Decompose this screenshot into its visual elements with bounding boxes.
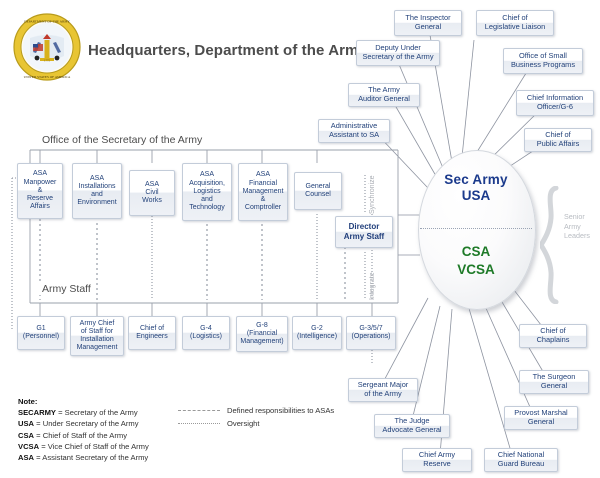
node-asa-civil-works[interactable]: ASA Civil Works xyxy=(129,170,175,216)
node-chief-of-chaplains[interactable]: Chief of Chaplains xyxy=(519,324,587,348)
center-label-vcsa: VCSA xyxy=(418,262,534,277)
node-army-auditor-general[interactable]: The Army Auditor General xyxy=(348,83,420,107)
army-staff-section-caption: Army Staff xyxy=(38,283,95,295)
note-block: Note: SECARMY = Secretary of the Army US… xyxy=(18,396,149,463)
node-g1-personnel[interactable]: G1 (Personnel) xyxy=(17,316,65,350)
dotted-line-icon xyxy=(178,423,220,424)
node-g4-logistics[interactable]: G-4 (Logistics) xyxy=(182,316,230,350)
dashed-line-icon xyxy=(178,410,220,411)
note-abbr-csa: CSA xyxy=(18,431,34,440)
note-abbr-vcsa: VCSA xyxy=(18,442,39,451)
center-label-usa: USA xyxy=(418,188,534,203)
node-administrative-assistant-sa[interactable]: Administrative Assistant to SA xyxy=(318,119,390,143)
node-army-chief-installation-mgmt[interactable]: Army Chief of Staff for Installation Man… xyxy=(70,316,124,356)
note-abbr-usa: USA xyxy=(18,419,34,428)
note-def-secarmy: = Secretary of the Army xyxy=(58,408,138,417)
legend-block: Defined responsibilities to ASAs Oversig… xyxy=(178,404,334,430)
node-asa-financial[interactable]: ASA Financial Management & Comptroller xyxy=(238,163,288,221)
note-def-csa: = Chief of Staff of the Army xyxy=(36,431,127,440)
node-chief-legislative-liaison[interactable]: Chief of Legislative Liaison xyxy=(476,10,554,36)
node-g357-operations[interactable]: G-3/5/7 (Operations) xyxy=(346,316,396,350)
node-g2-intelligence[interactable]: G-2 (Intelligence) xyxy=(292,316,342,350)
node-asa-manpower[interactable]: ASA Manpower & Reserve Affairs xyxy=(17,163,63,219)
note-abbr-secarmy: SECARMY xyxy=(18,408,56,417)
senior-leaders-brace-icon xyxy=(540,186,562,304)
org-chart-canvas: 1775 DEPARTMENT OF THE ARMY UNITED STATE… xyxy=(0,0,600,478)
note-def-usa: = Under Secretary of the Army xyxy=(36,419,138,428)
legend-row-dotted: Oversight xyxy=(178,417,334,430)
note-abbr-asa: ASA xyxy=(18,453,34,462)
node-judge-advocate-general[interactable]: The Judge Advocate General xyxy=(374,414,450,438)
node-asa-installations[interactable]: ASA Installations and Environment xyxy=(72,163,122,219)
center-label-sec-army: Sec Army xyxy=(418,172,534,187)
legend-label-dashed: Defined responsibilities to ASAs xyxy=(227,404,334,417)
center-label-csa: CSA xyxy=(418,244,534,259)
legend-label-dotted: Oversight xyxy=(227,417,260,430)
note-def-asa: = Assistant Secretary of the Army xyxy=(36,453,148,462)
senior-leaders-brace-label: Senior Army Leaders xyxy=(564,212,598,241)
note-def-vcsa: = Vice Chief of Staff of the Army xyxy=(41,442,149,451)
node-chief-of-engineers[interactable]: Chief of Engineers xyxy=(128,316,176,350)
node-chief-national-guard-bureau[interactable]: Chief National Guard Bureau xyxy=(484,448,558,472)
node-asa-alt[interactable]: ASA Acquisition, Logistics and Technolog… xyxy=(182,163,232,221)
node-sergeant-major-of-the-army[interactable]: Sergeant Major of the Army xyxy=(348,378,418,402)
node-surgeon-general[interactable]: The Surgeon General xyxy=(519,370,589,394)
node-g8-financial-management[interactable]: G-8 (Financial Management) xyxy=(236,316,288,352)
node-general-counsel[interactable]: General Counsel xyxy=(294,172,342,210)
note-heading: Note: xyxy=(18,396,149,407)
node-office-small-business-programs[interactable]: Office of Small Business Programs xyxy=(503,48,583,74)
node-director-army-staff[interactable]: Director Army Staff xyxy=(335,216,393,248)
ellipse-divider xyxy=(420,228,532,229)
node-chief-public-affairs[interactable]: Chief of Public Affairs xyxy=(524,128,592,152)
node-inspector-general[interactable]: The Inspector General xyxy=(394,10,462,36)
node-chief-army-reserve[interactable]: Chief Army Reserve xyxy=(402,448,472,472)
legend-row-dashed: Defined responsibilities to ASAs xyxy=(178,404,334,417)
node-provost-marshal-general[interactable]: Provost Marshal General xyxy=(504,406,578,430)
node-chief-information-officer-g6[interactable]: Chief Information Officer/G-6 xyxy=(516,90,594,116)
node-deputy-under-secretary[interactable]: Deputy Under Secretary of the Army xyxy=(356,40,440,66)
osa-section-caption: Office of the Secretary of the Army xyxy=(38,134,206,146)
integrate-label: Integrate xyxy=(369,272,376,300)
synchronize-label: Synchronize xyxy=(369,175,376,214)
